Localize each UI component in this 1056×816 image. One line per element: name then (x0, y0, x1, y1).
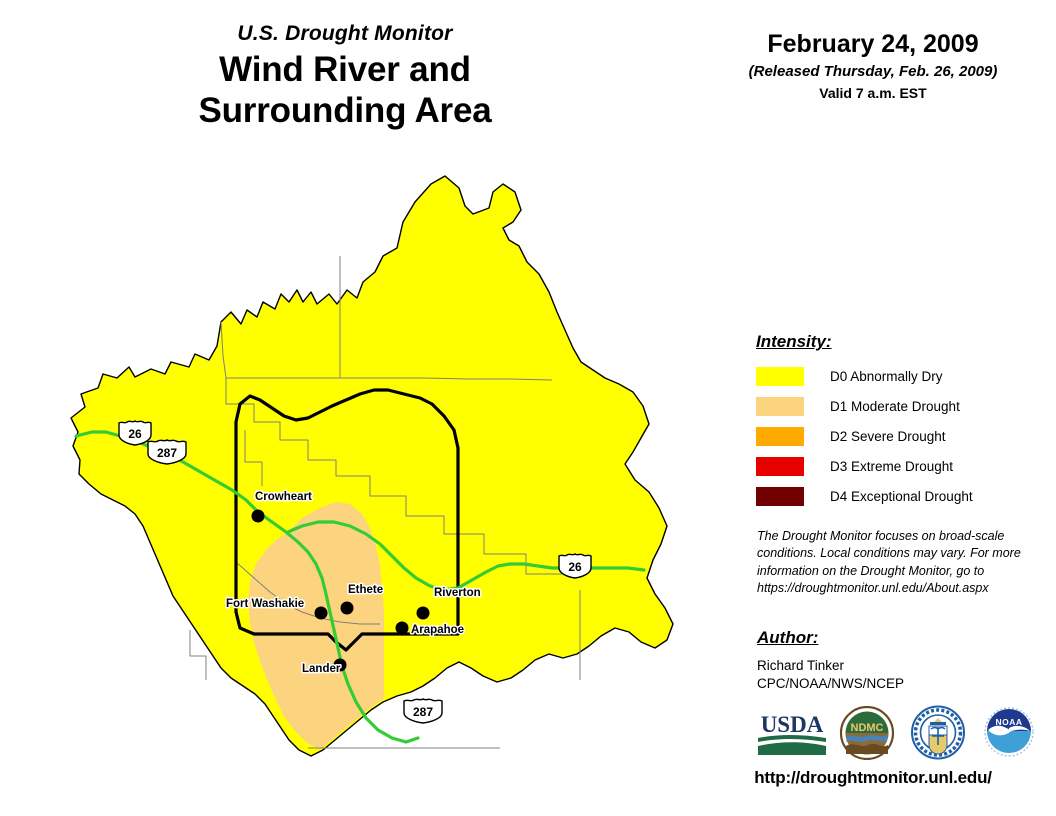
drought-map[interactable]: Crowheart Fort Washakie Ethete Riverton … (40, 160, 720, 790)
title-block: U.S. Drought Monitor Wind River and Surr… (0, 22, 690, 132)
city-dot-crowheart[interactable] (252, 510, 265, 523)
legend-item-d3: D3 Extreme Drought (756, 451, 1051, 481)
shield-us-26-east: 26 (559, 554, 591, 578)
author-block: Author: Richard Tinker CPC/NOAA/NWS/NCEP (757, 628, 1037, 693)
city-dot-riverton[interactable] (417, 607, 430, 620)
release-date: (Released Thursday, Feb. 26, 2009) (690, 63, 1056, 80)
legend-label-d4: D4 Exceptional Drought (830, 489, 973, 504)
city-label-ethete: Ethete (348, 584, 383, 596)
legend-item-d0: D0 Abnormally Dry (756, 361, 1051, 391)
intensity-legend: Intensity: D0 Abnormally Dry D1 Moderate… (756, 332, 1051, 511)
usda-logo-icon: USDA (756, 708, 828, 756)
disclaimer-line-2: conditions. Local conditions may vary. F… (757, 545, 1037, 562)
city-label-fort-washakie: Fort Washakie (226, 598, 304, 610)
city-dot-fort-washakie[interactable] (315, 607, 328, 620)
ndmc-logo-icon: NDMC (838, 706, 896, 760)
city-dot-ethete[interactable] (341, 602, 354, 615)
shield-number-26-east: 26 (568, 560, 582, 574)
disclaimer-line-3: information on the Drought Monitor, go t… (757, 563, 1037, 580)
svg-text:USDA: USDA (761, 712, 824, 737)
author-heading: Author: (757, 628, 1037, 648)
unl-seal-icon (910, 705, 966, 760)
shield-number-287-west: 287 (157, 446, 177, 460)
legend-swatch-d2 (756, 427, 804, 446)
legend-label-d1: D1 Moderate Drought (830, 399, 960, 414)
city-label-lander: Lander (302, 663, 341, 675)
legend-swatch-d4 (756, 487, 804, 506)
legend-item-d1: D1 Moderate Drought (756, 391, 1051, 421)
date-block: February 24, 2009 (Released Thursday, Fe… (690, 30, 1056, 101)
shield-us-26-west: 26 (119, 421, 151, 445)
city-label-crowheart: Crowheart (255, 491, 312, 503)
svg-text:NDMC: NDMC (851, 722, 884, 734)
legend-swatch-d3 (756, 457, 804, 476)
shield-number-26-west: 26 (128, 427, 142, 441)
author-name: Richard Tinker (757, 657, 1037, 675)
legend-label-d2: D2 Severe Drought (830, 429, 946, 444)
ndmc-logo: NDMC (838, 706, 896, 765)
agency-logos: USDA NDMC (752, 704, 1044, 760)
city-label-riverton: Riverton (434, 587, 481, 599)
droughtmonitor-url[interactable]: http://droughtmonitor.unl.edu/ (690, 768, 1056, 788)
page-title: Wind River and Surrounding Area (0, 49, 690, 132)
city-label-arapahoe: Arapahoe (411, 624, 464, 636)
map-svg[interactable]: Crowheart Fort Washakie Ethete Riverton … (40, 160, 720, 790)
legend-item-d4: D4 Exceptional Drought (756, 481, 1051, 511)
page-title-line-2: Surrounding Area (0, 90, 690, 131)
city-dot-arapahoe[interactable] (396, 622, 409, 635)
page-title-line-1: Wind River and (0, 49, 690, 90)
valid-time: Valid 7 a.m. EST (690, 85, 1056, 101)
disclaimer-about-link[interactable]: https://droughtmonitor.unl.edu/About.asp… (757, 580, 1037, 597)
program-subtitle: U.S. Drought Monitor (0, 22, 690, 45)
svg-text:NOAA: NOAA (995, 717, 1022, 727)
disclaimer-line-1: The Drought Monitor focuses on broad-sca… (757, 528, 1037, 545)
legend-swatch-d1 (756, 397, 804, 416)
legend-label-d0: D0 Abnormally Dry (830, 369, 943, 384)
legend-label-d3: D3 Extreme Drought (830, 459, 953, 474)
usda-logo: USDA (756, 708, 828, 761)
legend-heading: Intensity: (756, 332, 1051, 352)
shield-number-287-south: 287 (413, 705, 433, 719)
noaa-logo-icon: NOAA (980, 706, 1038, 759)
author-affiliation: CPC/NOAA/NWS/NCEP (757, 675, 1037, 693)
legend-item-d2: D2 Severe Drought (756, 421, 1051, 451)
disclaimer-text: The Drought Monitor focuses on broad-sca… (757, 528, 1037, 597)
legend-swatch-d0 (756, 367, 804, 386)
shield-us-287-west: 287 (148, 440, 186, 464)
map-date: February 24, 2009 (690, 30, 1056, 59)
noaa-logo: NOAA (980, 706, 1038, 764)
shield-us-287-south: 287 (404, 699, 442, 723)
unl-seal-logo (910, 705, 966, 765)
